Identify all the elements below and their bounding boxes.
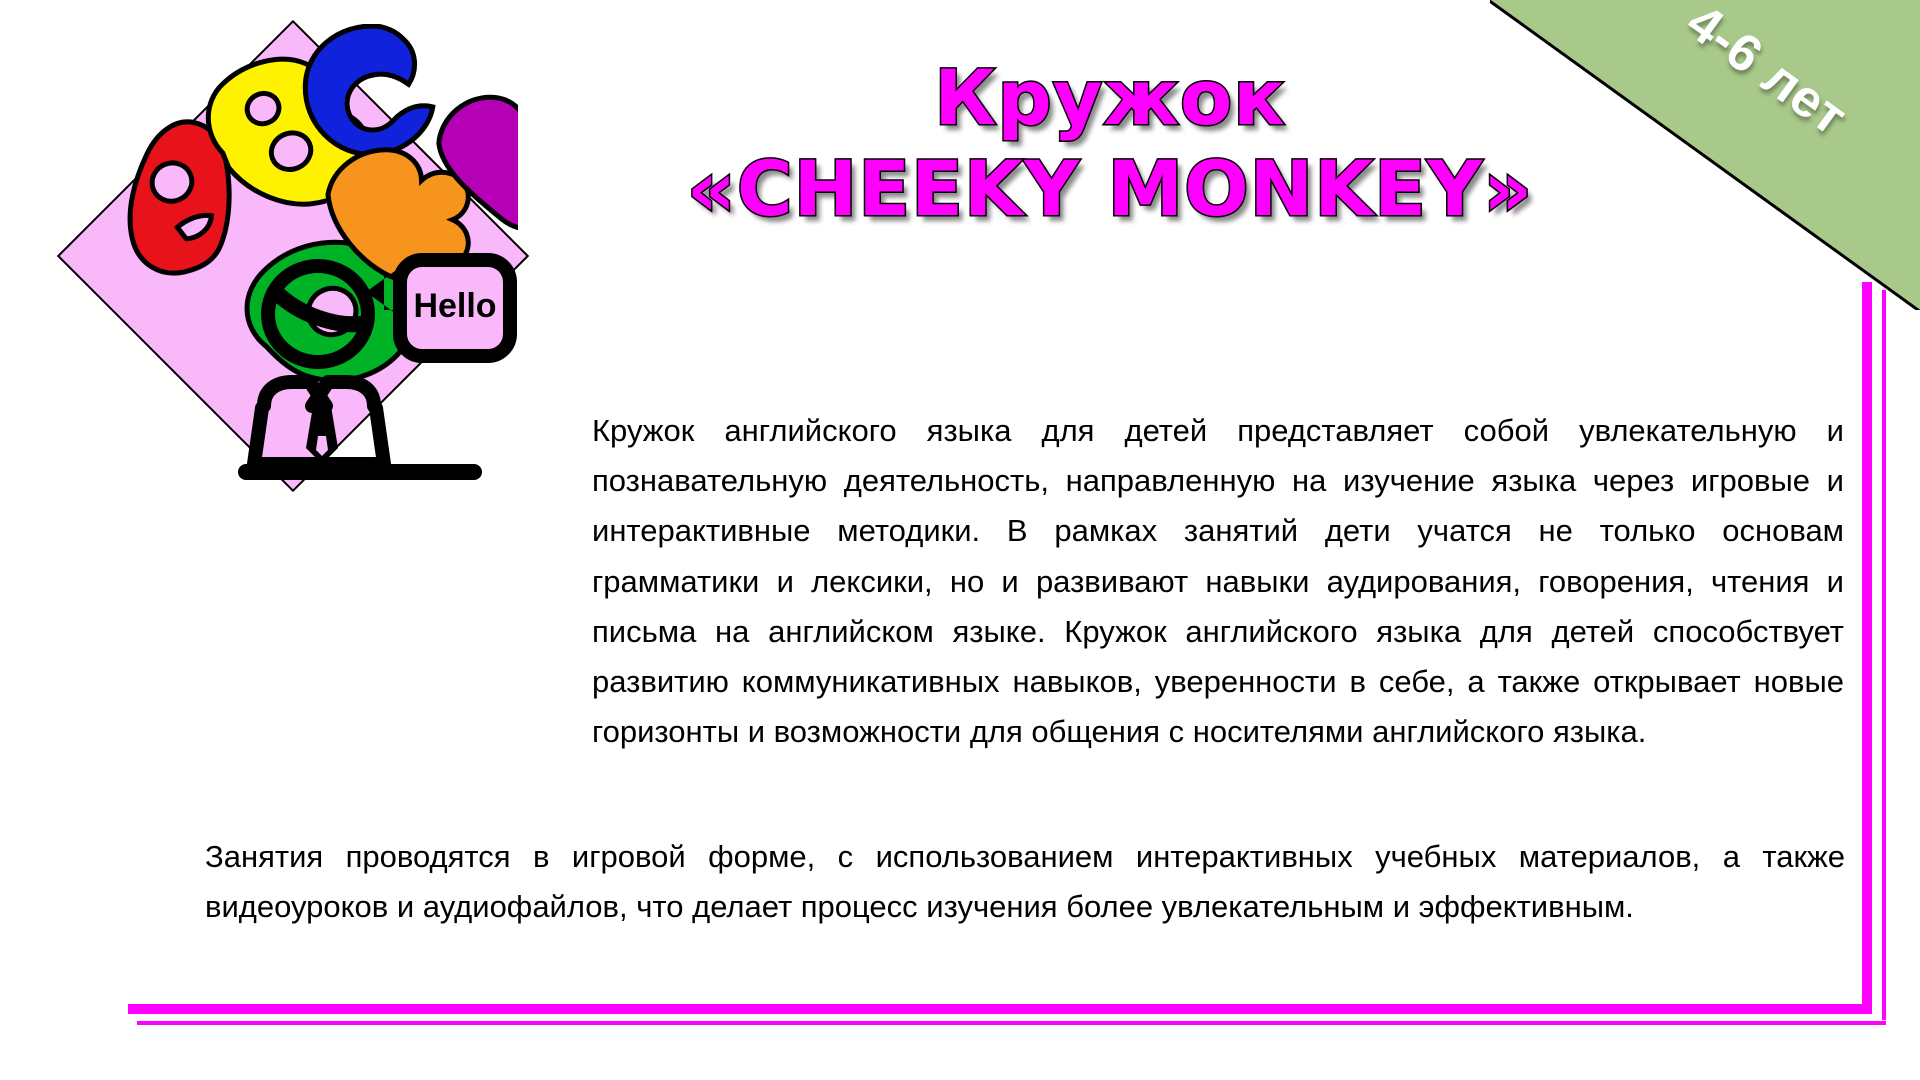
title-line-1: Кружок — [600, 58, 1620, 139]
age-corner-banner: 4-6 лет — [1490, 0, 1920, 310]
age-range-label: 4-6 лет — [1616, 0, 1918, 191]
bottom-border-rule-thick — [128, 1004, 1872, 1014]
illustration-abc-teacher: Hello — [48, 24, 518, 569]
green-triangle-shape — [1490, 0, 1920, 310]
slide-canvas: 4-6 лет Кружок «CHEEKY MONKEY» — [0, 0, 1920, 1080]
bottom-border-rule-thin — [137, 1021, 1886, 1025]
illustration-artwork: Hello — [48, 24, 518, 569]
speech-bubble-text: Hello — [413, 287, 496, 325]
right-border-rule-thin — [1882, 290, 1886, 1020]
title-line-2: «CHEEKY MONKEY» — [600, 149, 1620, 230]
desk-bar-icon — [238, 464, 482, 480]
page-title: Кружок «CHEEKY MONKEY» — [600, 58, 1620, 229]
triangle-edge-line — [1490, 0, 1920, 310]
right-border-rule-thick — [1862, 282, 1872, 1012]
description-paragraph-1: Кружок английского языка для детей предс… — [592, 406, 1844, 758]
description-paragraph-2: Занятия проводятся в игровой форме, с ис… — [205, 832, 1845, 932]
